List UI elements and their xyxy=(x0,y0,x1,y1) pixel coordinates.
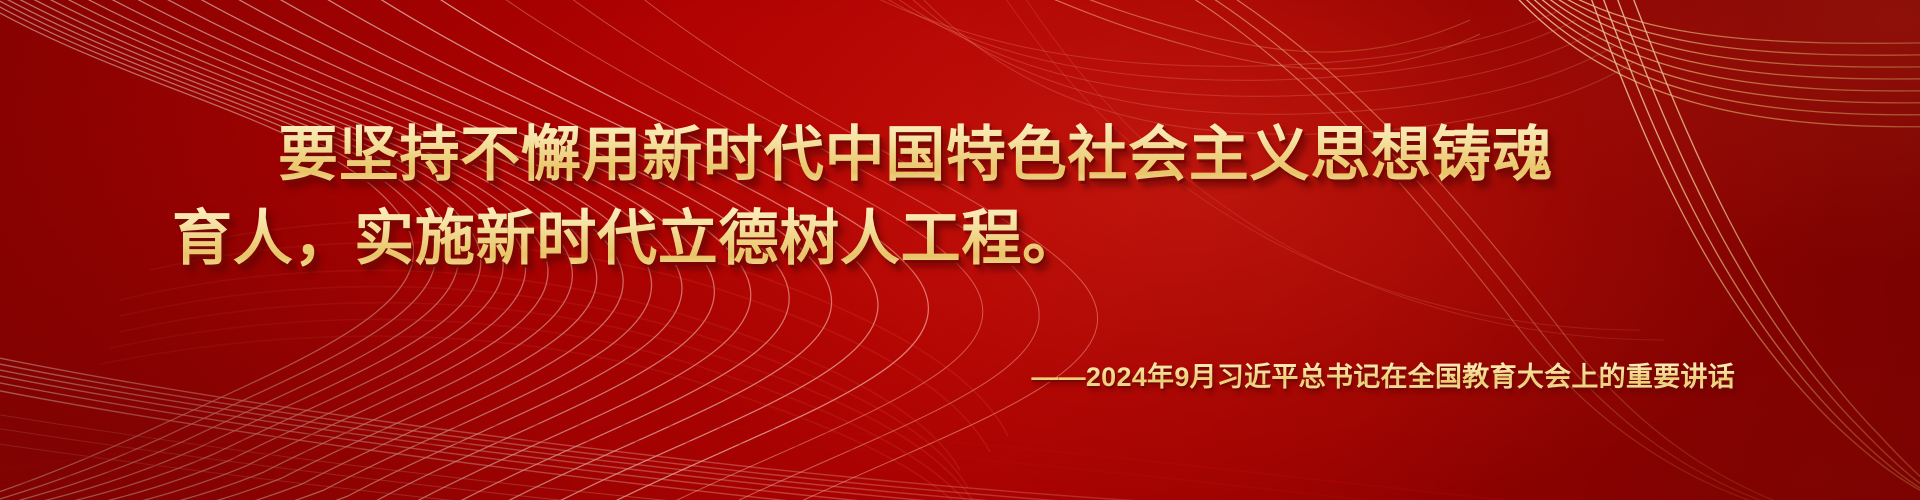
red-quote-banner: 要坚持不懈用新时代中国特色社会主义思想铸魂 育人，实施新时代立德树人工程。 ——… xyxy=(0,0,1920,500)
quote-attribution: ——2024年9月习近平总书记在全国教育大会上的重要讲话 xyxy=(1031,355,1735,394)
quote-line-1: 要坚持不懈用新时代中国特色社会主义思想铸魂 xyxy=(278,106,1553,193)
quote-text-block: 要坚持不懈用新时代中国特色社会主义思想铸魂 育人，实施新时代立德树人工程。 ——… xyxy=(0,0,1920,500)
quote-line-2: 育人，实施新时代立德树人工程。 xyxy=(172,190,1083,277)
